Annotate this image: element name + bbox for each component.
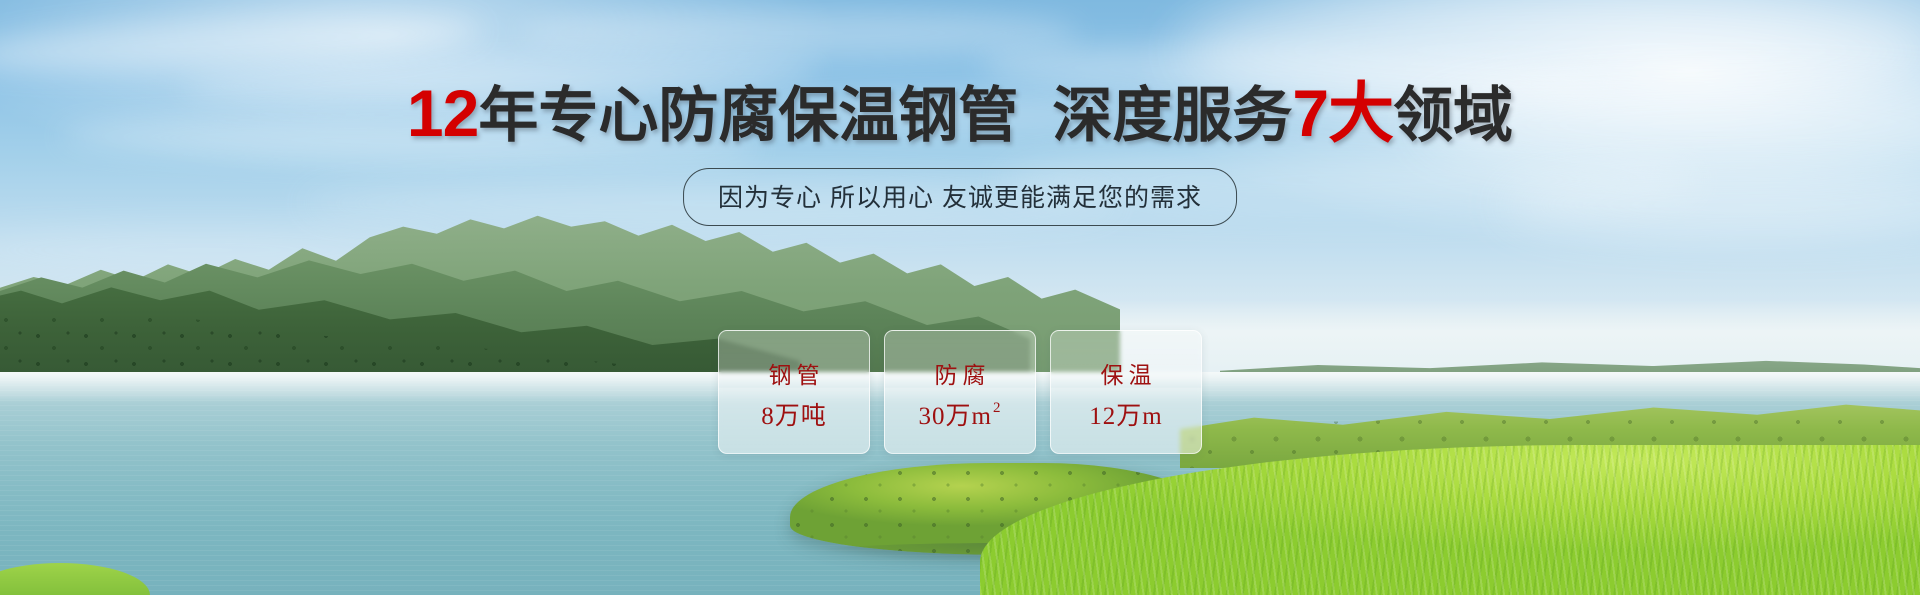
headline-years-number: 12 [407,76,478,150]
stat-card-value: 12万m [1089,404,1162,429]
headline-part-c: 领域 [1393,82,1513,149]
stat-card-value-text: 12万m [1089,404,1162,429]
stat-card-title: 钢管 [764,356,825,390]
stat-card-value: 30万m2 [919,404,1002,429]
stat-card-steel-pipe[interactable]: 钢管 8万吨 [718,330,870,454]
subtitle-pill: 因为专心 所以用心 友诚更能满足您的需求 [683,168,1237,226]
stat-card-value-text: 8万吨 [761,404,827,429]
stat-card-insulation[interactable]: 保温 12万m [1050,330,1202,454]
stat-card-anticorrosion[interactable]: 防腐 30万m2 [884,330,1036,454]
headline: 12年专心防腐保温钢管深度服务7大领域 [0,80,1920,146]
stat-card-title: 保温 [1096,356,1157,390]
stat-card-value: 8万吨 [761,404,827,429]
headline-fields-big: 大 [1328,76,1393,150]
headline-part-a: 年专心防腐保温钢管 [478,82,1018,149]
stat-card-value-superscript: 2 [993,401,1002,416]
stat-card-value-text: 30万m [919,404,992,429]
stat-cards: 钢管 8万吨 防腐 30万m2 保温 12万m [718,330,1202,454]
headline-fields-number: 7 [1292,76,1328,150]
promo-banner: 12年专心防腐保温钢管深度服务7大领域 因为专心 所以用心 友诚更能满足您的需求… [0,0,1920,595]
headline-part-b: 深度服务 [1052,82,1292,149]
stat-card-title: 防腐 [930,356,991,390]
banner-content: 12年专心防腐保温钢管深度服务7大领域 因为专心 所以用心 友诚更能满足您的需求… [0,0,1920,595]
